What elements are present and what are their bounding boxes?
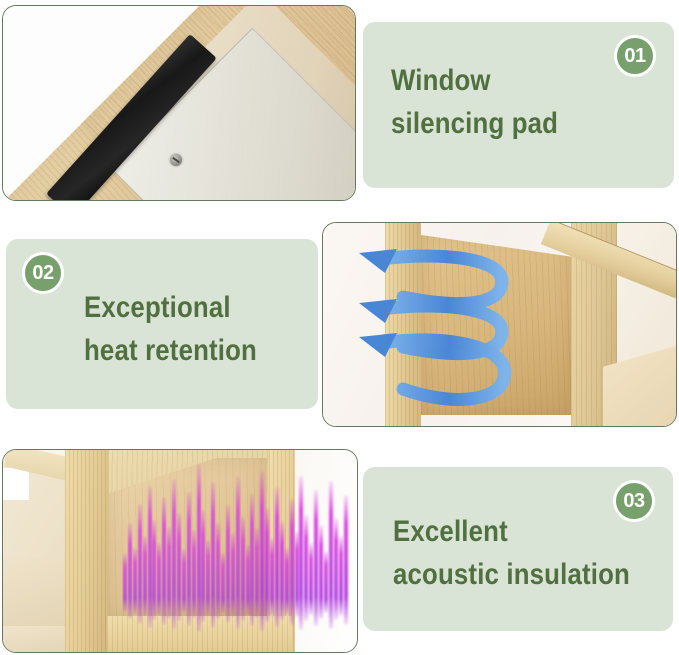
sound-wave-bar xyxy=(143,536,147,616)
feature-row-1: 01 Window silencing pad xyxy=(0,0,679,210)
sound-wave-bar xyxy=(221,553,225,613)
cabinet-front-post xyxy=(65,449,109,653)
sound-wave-bar xyxy=(319,525,323,619)
sound-wave-bar xyxy=(250,494,254,626)
sound-wave-bar xyxy=(314,490,318,626)
feature-row-3: 03 Excellent acoustic insulation xyxy=(0,447,679,655)
sound-wave-bar xyxy=(270,538,274,616)
cabinet-left-opening xyxy=(3,468,29,500)
sound-wave-bar xyxy=(280,522,284,620)
sound-wave-bar xyxy=(148,486,152,628)
step-badge-01: 01 xyxy=(614,35,656,77)
sound-wave-bar xyxy=(211,482,215,628)
feature-row-2: 02 Exceptional heat retention xyxy=(0,222,679,427)
sound-wave-bar xyxy=(231,533,235,617)
feature-image-card-2 xyxy=(322,222,677,427)
sound-wave-bar xyxy=(187,492,191,626)
sound-wave-bar xyxy=(299,476,303,630)
sound-wave-bar xyxy=(334,518,338,620)
sound-wave-bar xyxy=(201,510,205,622)
feature-text-card-1: 01 Window silencing pad xyxy=(363,22,674,188)
sound-wave-bar xyxy=(324,551,328,613)
feature-headline-3: Excellent acoustic insulation xyxy=(393,511,630,597)
sound-wave-graphic xyxy=(123,466,348,644)
sound-wave-bar xyxy=(138,504,142,624)
sound-wave-bar xyxy=(275,487,279,627)
sound-wave-bar xyxy=(133,548,137,614)
feature-infographic: 01 Window silencing pad 02 Exceptional h… xyxy=(0,0,679,655)
sound-wave-bar xyxy=(162,497,166,625)
sound-wave-bar xyxy=(192,530,196,618)
feature-image-card-1 xyxy=(2,5,356,201)
sound-wave-bar xyxy=(246,545,250,615)
sound-wave-bar xyxy=(295,531,299,617)
sound-wave-bar xyxy=(241,517,245,621)
sound-wave-bar xyxy=(255,528,259,618)
screw-icon xyxy=(170,154,182,166)
feature-text-card-3: 03 Excellent acoustic insulation xyxy=(363,467,673,631)
photo-acoustic-insulation xyxy=(3,450,357,652)
sound-wave-bar xyxy=(206,540,210,616)
step-badge-02: 02 xyxy=(22,252,64,294)
feature-headline-2: Exceptional heat retention xyxy=(84,287,257,373)
sound-wave-bar xyxy=(182,549,186,613)
sound-wave-bar xyxy=(236,477,240,629)
sound-wave-bar xyxy=(128,523,132,619)
sound-wave-bar xyxy=(339,536,343,616)
sound-wave-bar xyxy=(329,481,333,629)
sound-wave-bar xyxy=(167,527,171,619)
feature-headline-1: Window silencing pad xyxy=(391,60,558,146)
sound-wave-bar xyxy=(304,515,308,621)
sound-wave-bar xyxy=(123,554,127,612)
sound-wave-bar xyxy=(226,505,230,623)
sound-wave-bar xyxy=(265,508,269,622)
photo-heat-retention xyxy=(323,223,676,426)
sound-wave-bar xyxy=(285,548,289,614)
sound-wave-bar xyxy=(197,464,201,632)
sound-wave-bar xyxy=(290,499,294,625)
sound-wave-bar xyxy=(157,543,161,615)
sound-wave-bar xyxy=(152,520,156,620)
sound-wave-bar xyxy=(309,543,313,615)
sound-wave-bar xyxy=(172,479,176,629)
heat-arrow-icon-3 xyxy=(351,329,531,415)
feature-image-card-3 xyxy=(2,449,358,653)
photo-window-silencing-pad xyxy=(3,6,355,200)
sound-wave-bar xyxy=(177,513,181,621)
sound-wave-bar xyxy=(216,523,220,619)
sound-wave-bar xyxy=(260,471,264,631)
sound-wave-bar xyxy=(344,495,348,625)
feature-text-card-2: 02 Exceptional heat retention xyxy=(6,239,318,409)
